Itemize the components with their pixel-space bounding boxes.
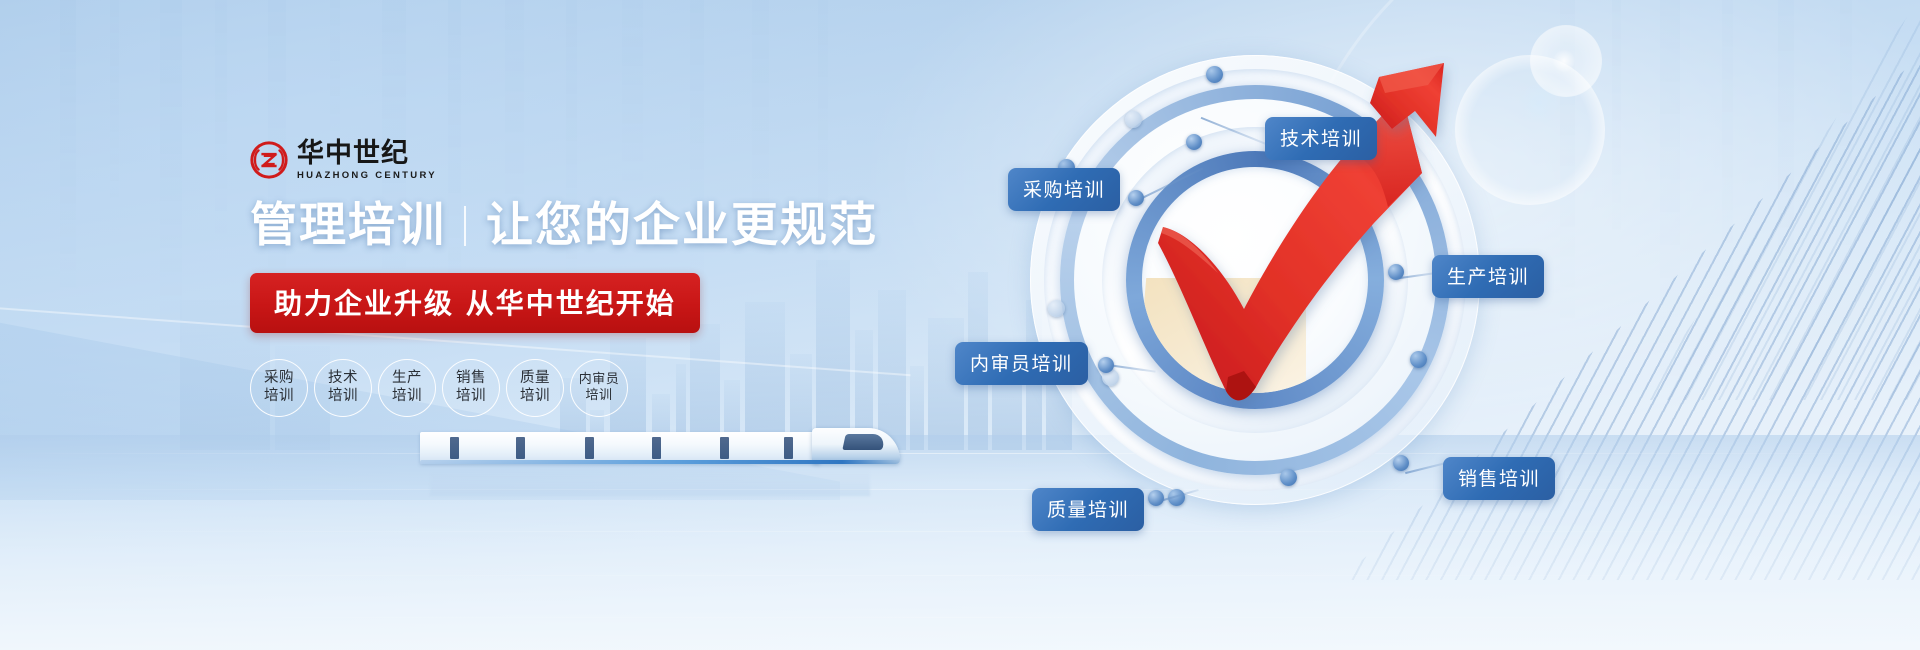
badge-line2: 培训 [264,388,294,405]
bokeh-circle-small [1553,50,1575,72]
pill-dot-tech [1186,134,1202,150]
brand-name-zh: 华中世纪 [297,140,437,167]
headline-primary: 管理培训 [250,200,446,253]
pill-production-training[interactable]: 生产培训 [1432,255,1544,298]
training-badge[interactable]: 采购 培训 [250,359,308,417]
badge-line1: 内审员 [579,372,620,388]
promo-banner: 技术培训 采购培训 生产培训 内审员培训 销售培训 质量培训 [0,0,1920,650]
pill-tech-training[interactable]: 技术培训 [1265,117,1377,160]
headline-secondary: 让您的企业更规范 [486,200,878,253]
badge-line1: 生产 [392,370,422,387]
pill-dot-purchase [1128,190,1144,206]
concentric-target-rings-icon [1030,55,1480,505]
pill-dot-production [1388,264,1404,280]
badge-line2: 培训 [520,388,550,405]
training-badge[interactable]: 销售 培训 [442,359,500,417]
page-title: 管理培训 让您的企业更规范 [250,200,970,253]
pill-label: 生产培训 [1447,266,1529,288]
pill-dot-quality [1148,490,1164,506]
badge-line2: 培训 [392,388,422,405]
pill-label: 采购培训 [1023,179,1105,201]
training-badge[interactable]: 内审员 培训 [570,359,628,417]
reflective-floor [0,435,1920,650]
pill-label: 质量培训 [1047,499,1129,521]
pill-sales-training[interactable]: 销售培训 [1443,457,1555,500]
pill-dot-sales [1393,455,1409,471]
training-badge-list: 采购 培训 技术 培训 生产 培训 销售 培训 质量 培训 内审员 培训 [250,359,970,417]
high-speed-train-icon [420,426,890,468]
brand-logo: 华中世纪 HUAZHONG CENTURY [250,140,970,180]
huazhong-circular-emblem-icon [250,141,288,179]
pill-quality-training[interactable]: 质量培训 [1032,488,1144,531]
badge-line1: 技术 [328,370,358,387]
headline-divider [464,206,466,246]
training-badge[interactable]: 质量 培训 [506,359,564,417]
pill-dot-auditor [1098,357,1114,373]
pill-label: 内审员培训 [970,353,1073,375]
training-badge[interactable]: 生产 培训 [378,359,436,417]
tagline-badge: 助力企业升级 从华中世纪开始 [250,273,700,333]
red-check-arrow-icon [1030,55,1480,505]
pill-label: 销售培训 [1458,468,1540,490]
training-badge[interactable]: 技术 培训 [314,359,372,417]
badge-line1: 销售 [456,370,486,387]
banner-content: 华中世纪 HUAZHONG CENTURY 管理培训 让您的企业更规范 助力企业… [250,140,970,417]
pill-auditor-training[interactable]: 内审员培训 [955,342,1088,385]
badge-line1: 质量 [520,370,550,387]
badge-line2: 培训 [585,388,612,404]
pill-purchase-training[interactable]: 采购培训 [1008,168,1120,211]
pill-label: 技术培训 [1280,128,1362,150]
badge-line2: 培训 [328,388,358,405]
bokeh-circle-tiny [1518,82,1560,124]
badge-line1: 采购 [264,370,294,387]
badge-line2: 培训 [456,388,486,405]
brand-name-en: HUAZHONG CENTURY [297,170,437,181]
